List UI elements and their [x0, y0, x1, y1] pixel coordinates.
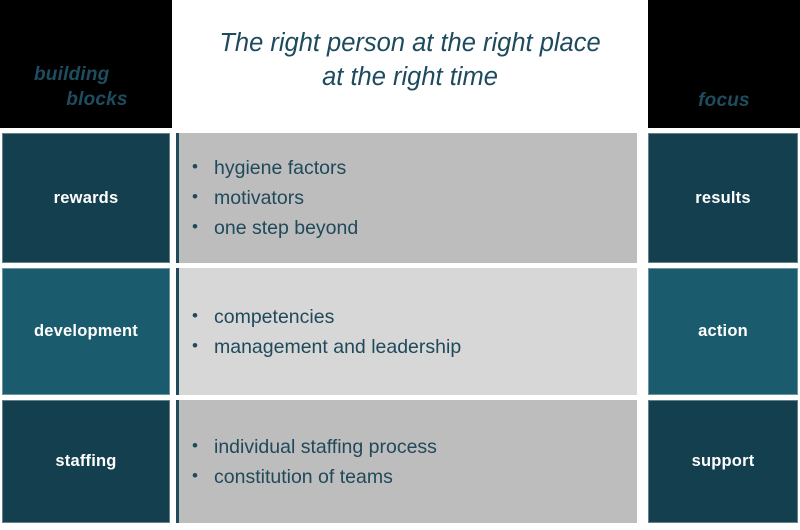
framework-diagram: building blocks The right person at the …	[0, 0, 800, 530]
building-blocks-header-label: building blocks	[34, 62, 154, 112]
table-row: development competencies management and …	[0, 268, 800, 395]
content-cell-edge	[176, 400, 179, 523]
table-row: rewards hygiene factors motivators one s…	[0, 133, 800, 263]
focus-cell-support[interactable]: support	[648, 400, 798, 523]
focus-cell-results[interactable]: results	[648, 133, 798, 263]
content-cell-edge	[176, 133, 179, 263]
content-cell-rewards: hygiene factors motivators one step beyo…	[176, 133, 637, 263]
list-item: constitution of teams	[186, 462, 437, 492]
list-item: hygiene factors	[186, 153, 358, 183]
focus-cell-action[interactable]: action	[648, 268, 798, 395]
bullet-list-rewards: hygiene factors motivators one step beyo…	[186, 153, 358, 243]
focus-label: action	[698, 322, 748, 341]
building-block-cell-development[interactable]: development	[2, 268, 170, 395]
building-block-label: rewards	[54, 189, 119, 208]
list-item: individual staffing process	[186, 432, 437, 462]
focus-header-label: focus	[648, 88, 800, 113]
building-blocks-header-line1: building	[34, 64, 109, 85]
list-item: motivators	[186, 183, 358, 213]
list-item: competencies	[186, 302, 461, 332]
table-row: staffing individual staffing process con…	[0, 400, 800, 523]
building-blocks-header-line2: blocks	[34, 87, 154, 112]
focus-label: results	[695, 189, 751, 208]
focus-label: support	[692, 452, 755, 471]
content-cell-staffing: individual staffing process constitution…	[176, 400, 637, 523]
building-block-cell-staffing[interactable]: staffing	[2, 400, 170, 523]
page-title-line2: at the right time	[322, 63, 498, 91]
bullet-list-staffing: individual staffing process constitution…	[186, 432, 437, 492]
building-block-cell-rewards[interactable]: rewards	[2, 133, 170, 263]
page-title: The right person at the right place at t…	[176, 26, 644, 94]
building-block-label: staffing	[55, 452, 116, 471]
building-block-label: development	[34, 322, 138, 341]
list-item: management and leadership	[186, 332, 461, 362]
content-cell-development: competencies management and leadership	[176, 268, 637, 395]
bullet-list-development: competencies management and leadership	[186, 302, 461, 362]
list-item: one step beyond	[186, 213, 358, 243]
page-title-line1: The right person at the right place	[219, 29, 600, 57]
content-cell-edge	[176, 268, 179, 395]
